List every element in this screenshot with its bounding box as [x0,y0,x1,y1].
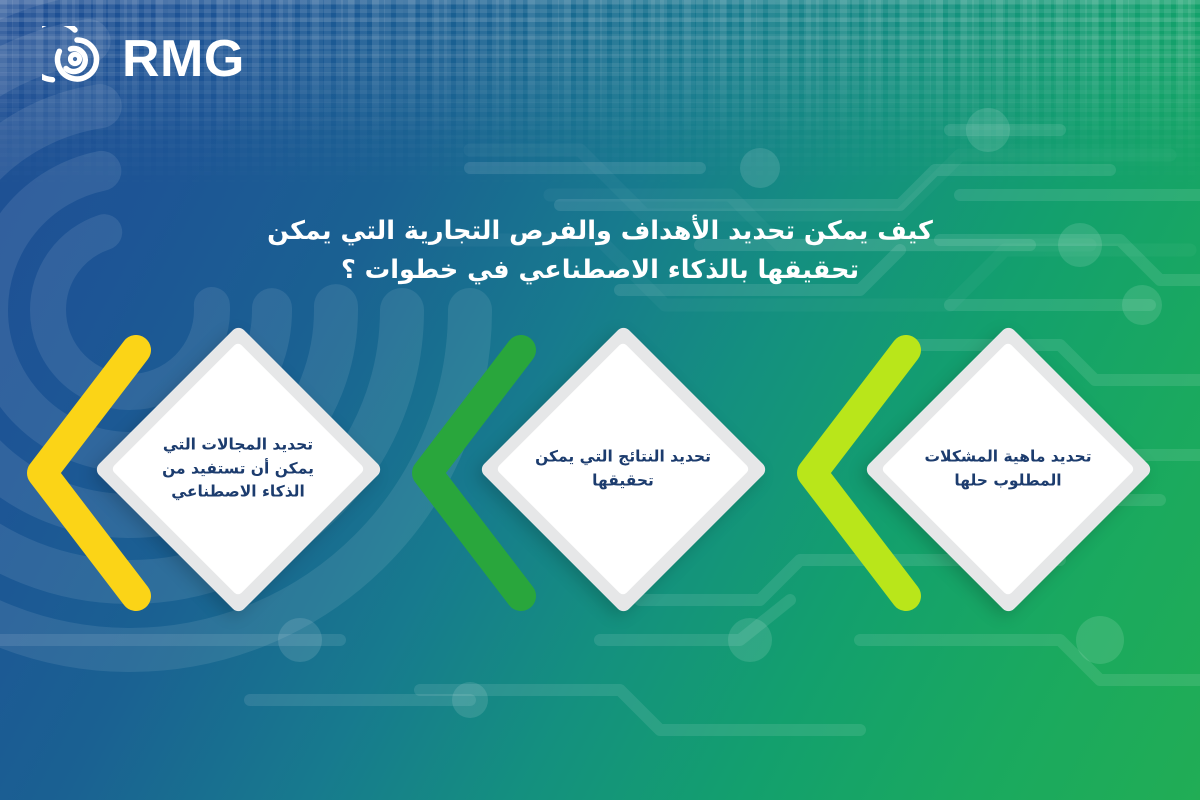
page-title: كيف يمكن تحديد الأهداف والفرص التجارية ا… [0,212,1200,290]
headline-line-2: تحقيقها بالذكاء الاصطناعي في خطوات ؟ [230,251,970,290]
step-label-2: تحديد النتائج التي يمكن تحقيقها [526,445,721,492]
brand-logo[interactable]: RMG [42,26,245,92]
steps-row: تحديد المجالات التي يمكن أن تستفيد من ال… [0,316,1200,636]
diamond-shape-3: تحديد المجالات التي يمكن أن تستفيد من ال… [93,324,383,614]
step-card-3[interactable]: تحديد المجالات التي يمكن أن تستفيد من ال… [0,316,400,636]
step-label-1: تحديد ماهية المشكلات المطلوب حلها [891,445,1126,492]
brand-name: RMG [122,33,245,85]
step-card-2[interactable]: تحديد النتائج التي يمكن تحقيقها [385,316,785,636]
rmg-spiral-icon [42,26,108,92]
infographic-canvas: RMG كيف يمكن تحديد الأهداف والفرص التجار… [0,0,1200,800]
step-label-3: تحديد المجالات التي يمكن أن تستفيد من ال… [151,434,326,505]
headline-line-1: كيف يمكن تحديد الأهداف والفرص التجارية ا… [230,212,970,251]
diamond-shape-2: تحديد النتائج التي يمكن تحقيقها [478,324,768,614]
diamond-shape-1: تحديد ماهية المشكلات المطلوب حلها [863,324,1153,614]
step-card-1[interactable]: تحديد ماهية المشكلات المطلوب حلها [770,316,1170,636]
